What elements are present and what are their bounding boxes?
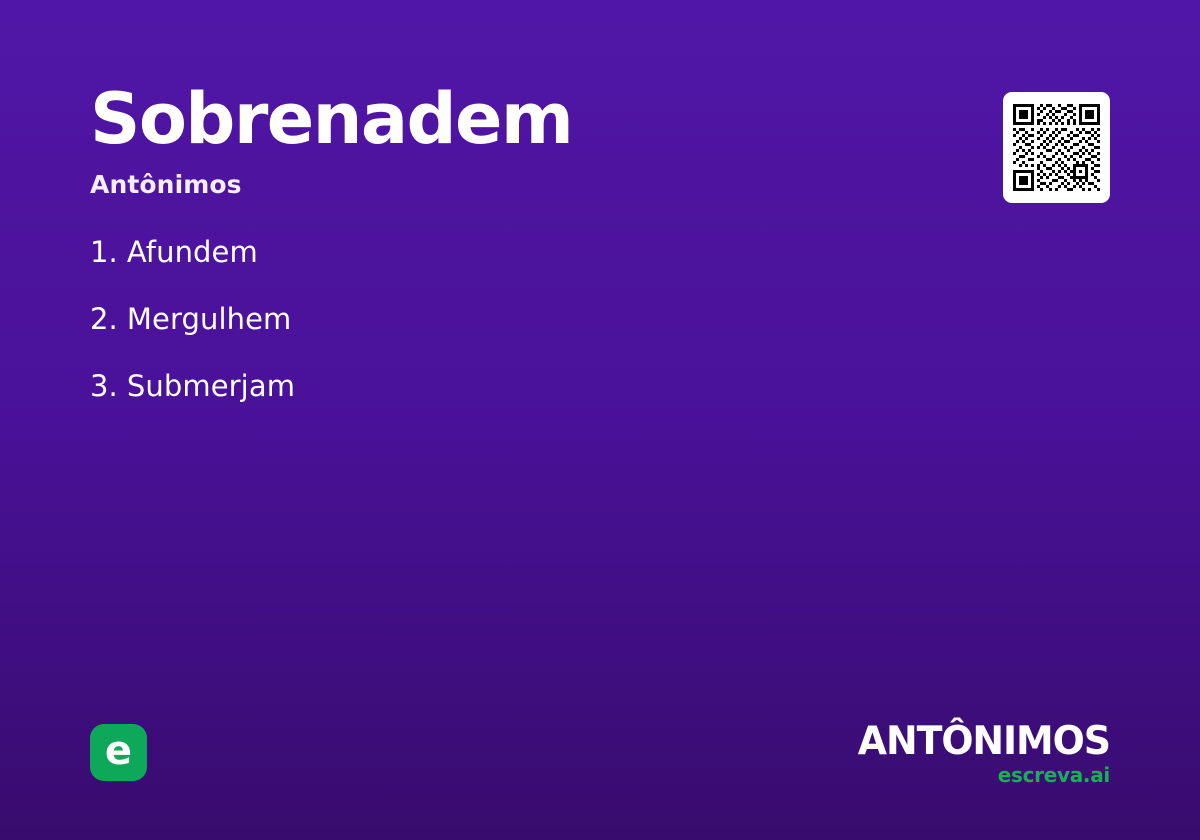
antonyms-card: Sobrenadem Antônimos 1. Afundem 2. Mergu… bbox=[0, 0, 1200, 840]
wordmark-title: ANTÔNIMOS bbox=[858, 722, 1110, 761]
list-item: 1. Afundem bbox=[90, 238, 850, 305]
list-item-word: Afundem bbox=[127, 238, 258, 267]
qr-code-panel[interactable] bbox=[1003, 92, 1110, 203]
antonyms-list: 1. Afundem 2. Mergulhem 3. Submerjam bbox=[90, 238, 850, 439]
headline-block: Sobrenadem Antônimos bbox=[90, 84, 930, 199]
list-item-word: Mergulhem bbox=[127, 305, 292, 334]
brand-badge-letter: e bbox=[105, 731, 132, 771]
list-item: 2. Mergulhem bbox=[90, 305, 850, 372]
list-item-word: Submerjam bbox=[127, 372, 295, 401]
page-title: Sobrenadem bbox=[90, 84, 930, 154]
escreva-logo-badge[interactable]: e bbox=[90, 724, 147, 781]
list-item: 3. Submerjam bbox=[90, 372, 850, 439]
list-item-index: 3. bbox=[90, 372, 118, 401]
qr-code-icon bbox=[1013, 104, 1100, 191]
brand-wordmark[interactable]: ANTÔNIMOS escreva.ai bbox=[850, 722, 1110, 787]
page-subtitle: Antônimos bbox=[90, 170, 930, 199]
list-item-index: 1. bbox=[90, 238, 118, 267]
wordmark-domain: escreva.ai bbox=[850, 763, 1110, 787]
list-item-index: 2. bbox=[90, 305, 118, 334]
